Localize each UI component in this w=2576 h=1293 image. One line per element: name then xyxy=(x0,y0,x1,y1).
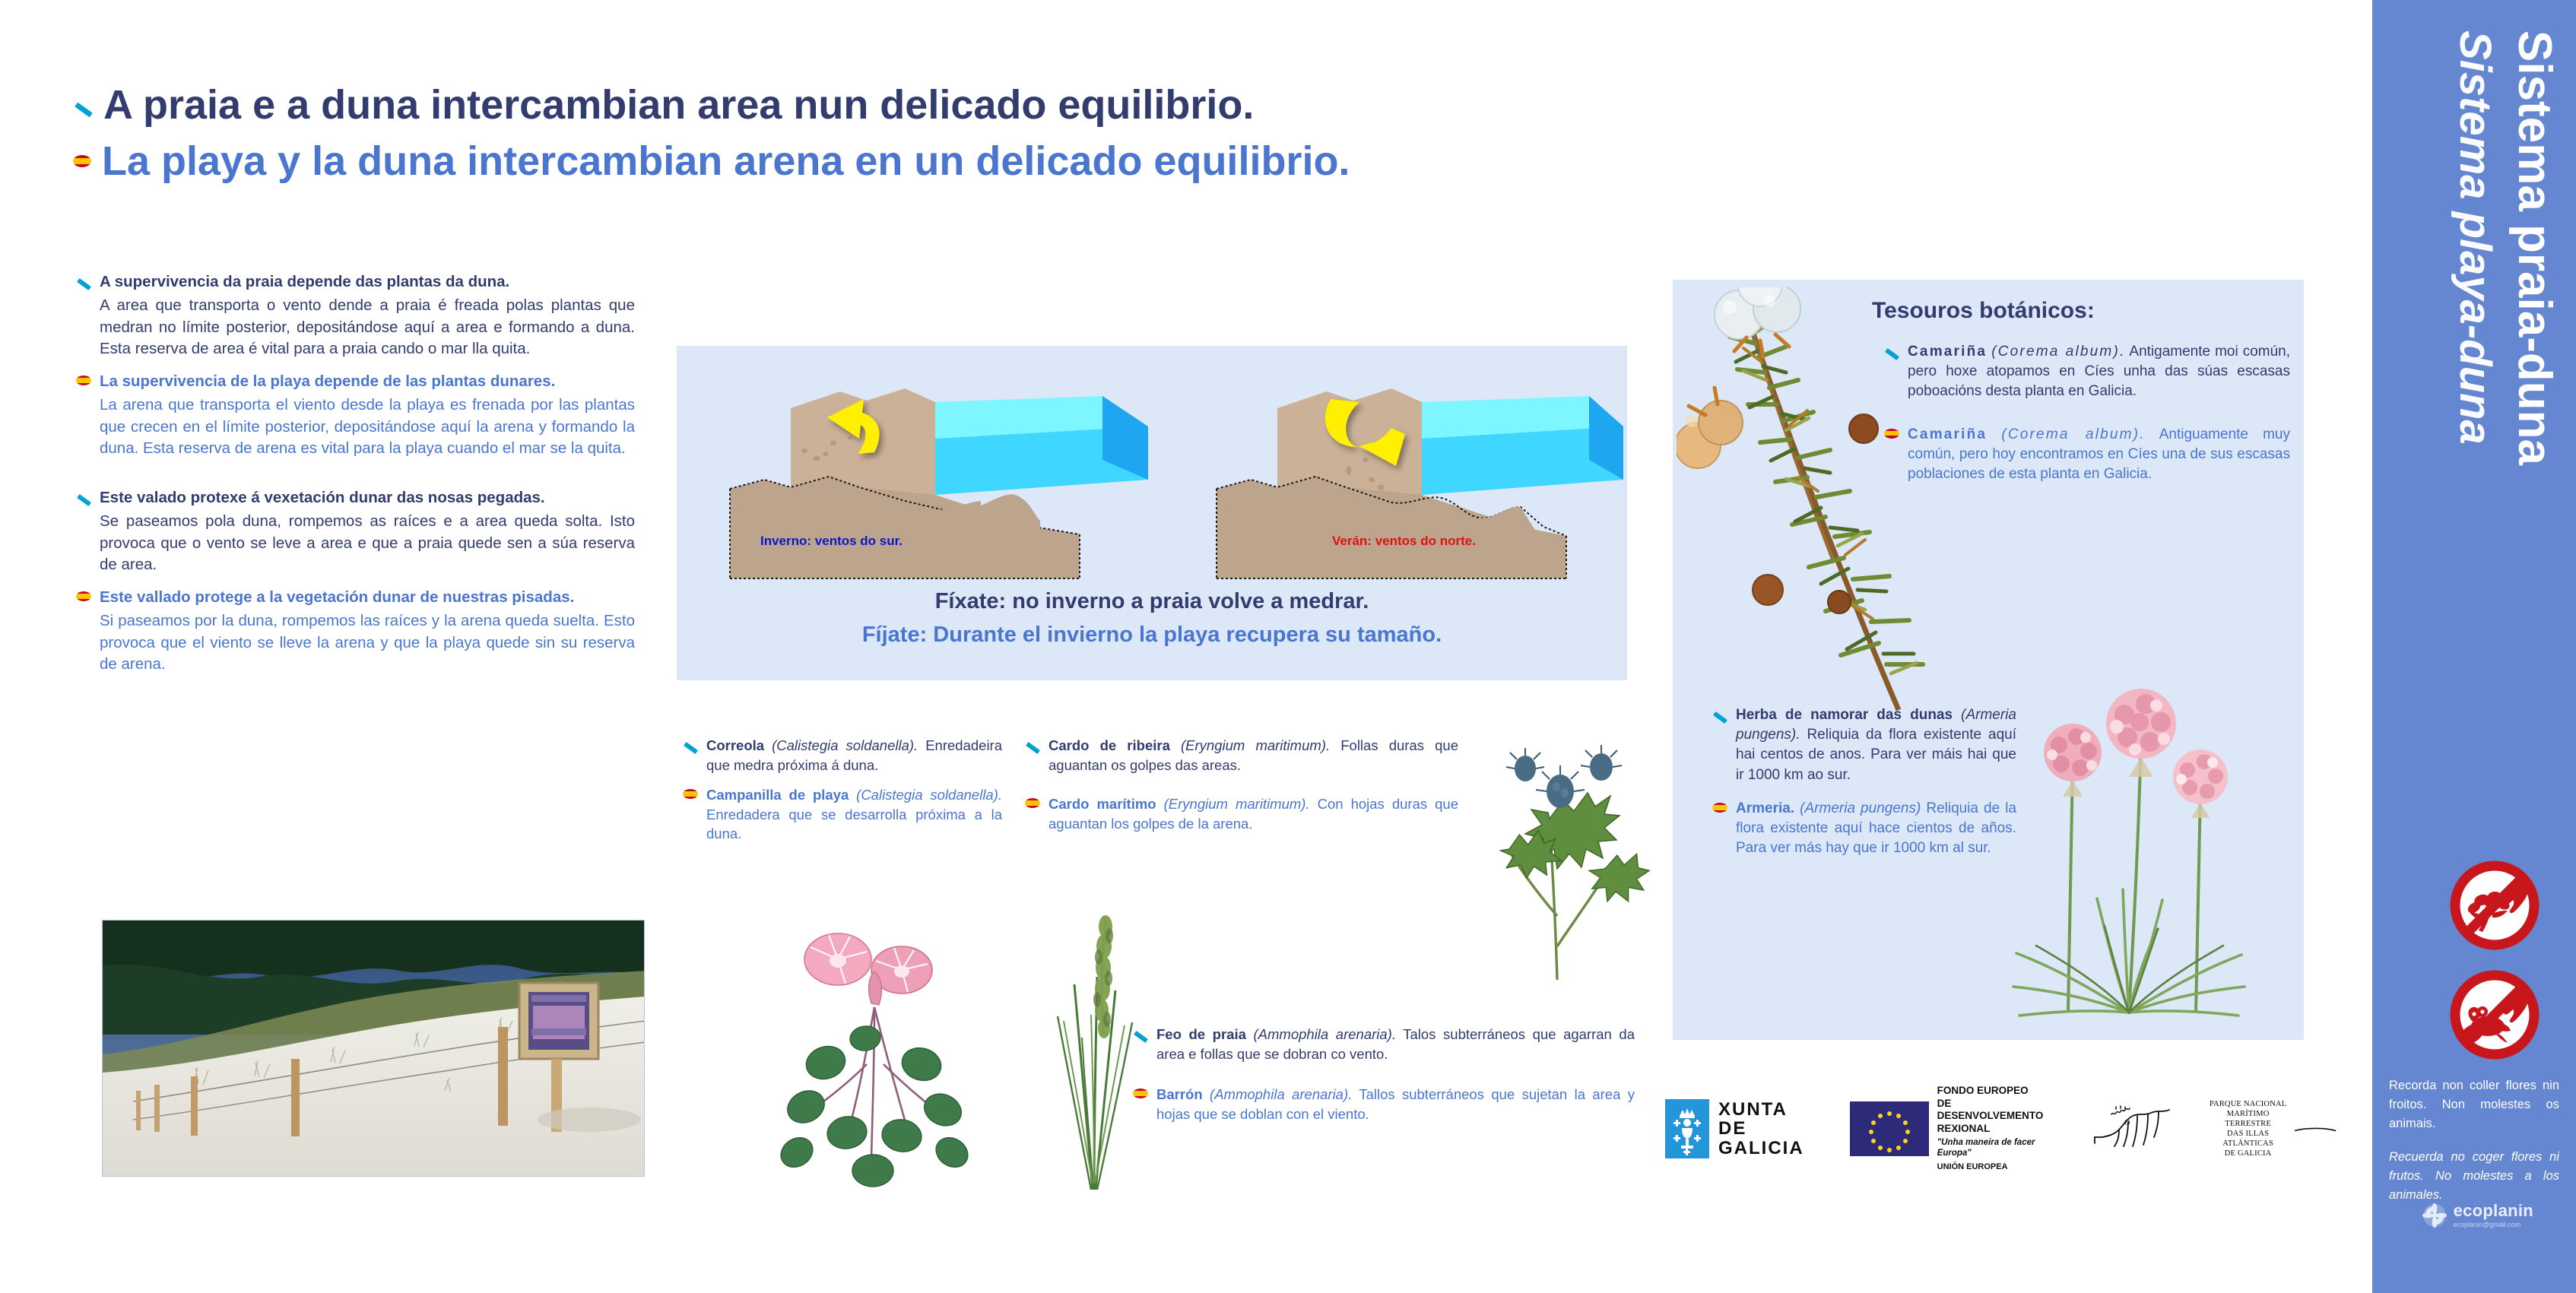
left-block2-lead-es: Este vallado protege a la vegetación dun… xyxy=(100,588,635,607)
feo-galician: Feo de praia (Ammophila arenaria). Talos… xyxy=(1133,1025,1635,1063)
spanish-flag-icon xyxy=(1712,803,1727,813)
eu-line2: DESENVOLVEMENTO xyxy=(1937,1110,2044,1122)
corema-album-illustration xyxy=(1677,287,1927,713)
european-fund-logo: FONDO EUROPEO DE DESENVOLVEMENTO REXIONA… xyxy=(1850,1085,2044,1172)
headline-block: A praia e a duna intercambian area nun d… xyxy=(73,82,2035,195)
spanish-flag-icon xyxy=(683,789,698,799)
camarina-sci-es: (Corema album). xyxy=(2001,426,2145,442)
park-line1: PARQUE NACIONAL MARÍTIMO TERRESTRE xyxy=(2203,1099,2292,1129)
armeria-pungens-illustration xyxy=(1977,661,2296,1019)
xunta-de-galicia-logo: XUNTA DE GALICIA xyxy=(1665,1099,1804,1158)
xunta-line1: XUNTA xyxy=(1718,1100,1804,1119)
calistegia-soldanella-illustration xyxy=(753,874,996,1193)
diagram-caption-gl: Fíxate: no inverno a praia volve a medra… xyxy=(677,588,1627,616)
correola-galician: Correola (Calistegia soldanella). Enreda… xyxy=(683,736,1002,775)
galician-flag-icon xyxy=(73,99,93,119)
left-block2-lead-gl: Este valado protexe á vexetación dunar d… xyxy=(100,488,635,508)
summer-block: Verán: ventos do norte. xyxy=(1217,388,1623,578)
right-sidebar: Sistema praia-duna Sistema playa-duna xyxy=(2372,0,2576,1293)
headline-galician: A praia e a duna intercambian area nun d… xyxy=(103,82,1254,128)
armeria-galician: Herba de namorar das dunas (Armeria pung… xyxy=(1712,705,2016,785)
national-park-logo: Ɵ PARQUE NACIONAL MARÍTIMO TERRESTRE DAS… xyxy=(2089,1099,2337,1159)
spanish-flag-icon xyxy=(76,591,91,601)
correola-body-es: Enredadera que se desarrolla próxima a l… xyxy=(706,807,1002,842)
cardo-lead-es: Cardo marítimo xyxy=(1048,796,1156,812)
sidebar-warning-note: Recorda non coller flores nin froitos. N… xyxy=(2389,1076,2559,1205)
ecoplanin-flower-icon xyxy=(2422,1203,2448,1228)
left-block1-lead-es: La supervivencia de la playa depende de … xyxy=(100,372,635,391)
left-block2-galician: Este valado protexe á vexetación dunar d… xyxy=(76,488,635,575)
cardo-sci-gl: (Eryngium maritimum). xyxy=(1181,737,1330,753)
correola-lead-gl: Correola xyxy=(706,737,764,753)
ecoplanin-credit: ecoplanin ecoplanin@gmail.com xyxy=(2422,1203,2533,1228)
armeria-lead-es: Armeria. xyxy=(1736,800,1794,816)
treasure-entry-camarina: Camariña (Corema album). Antigamente moi… xyxy=(1884,342,2290,507)
plant-entry-cardo: Cardo de ribeira (Eryngium maritimum). F… xyxy=(1025,736,1458,844)
spanish-flag-icon xyxy=(73,155,91,167)
armeria-sci-es: (Armeria pungens) xyxy=(1800,800,1921,816)
left-block1-lead-gl: A supervivencia da praia depende das pla… xyxy=(100,272,635,292)
left-block1-body-es: La arena que transporta el viento desde … xyxy=(100,395,635,459)
sidebar-title-galician: Sistema praia-duna xyxy=(2511,30,2558,465)
park-line2: DAS ILLAS ATLÁNTICAS xyxy=(2203,1129,2292,1149)
headline-spanish: La playa y la duna intercambian arena en… xyxy=(102,138,1350,184)
winter-block: Inverno: ventos do sur. xyxy=(730,388,1148,578)
sidebar-title-spanish: Sistema playa-duna xyxy=(2453,30,2497,445)
left-block1-galician: A supervivencia da praia depende das pla… xyxy=(76,272,635,360)
eryngium-maritimum-illustration xyxy=(1467,734,1658,984)
left-block1-body-gl: A area que transporta o vento dende a pr… xyxy=(100,295,635,360)
left-block2-body-gl: Se paseamos pola duna, rompemos as raíce… xyxy=(100,511,635,575)
plant-entry-correola: Correola (Calistegia soldanella). Enreda… xyxy=(683,736,1002,854)
treasure-entry-armeria: Herba de namorar das dunas (Armeria pung… xyxy=(1712,705,2016,873)
plant-entry-feo: Feo de praia (Ammophila arenaria). Talos… xyxy=(1133,1025,1635,1134)
correola-lead-es: Campanilla de playa xyxy=(706,787,849,803)
headline-spanish-row: La playa y la duna intercambian arena en… xyxy=(73,138,2035,184)
winter-label: Inverno: ventos do sur. xyxy=(760,534,903,548)
diagram-caption: Fíxate: no inverno a praia volve a medra… xyxy=(677,588,1627,649)
sidebar-note-gl: Recorda non coller flores nin froitos. N… xyxy=(2389,1076,2559,1133)
correola-sci-es: (Calistegia soldanella). xyxy=(856,787,1002,803)
galician-flag-icon xyxy=(76,276,91,291)
park-underline-icon xyxy=(2293,1126,2337,1133)
armeria-spanish: Armeria. (Armeria pungens) Reliquia de l… xyxy=(1712,799,2016,859)
feo-sci-es: (Ammophila arenaria). xyxy=(1210,1086,1352,1102)
cardo-spanish: Cardo marítimo (Eryngium maritimum). Con… xyxy=(1025,794,1458,833)
galician-flag-icon xyxy=(683,740,698,755)
camarina-galician: Camariña (Corema album). Antigamente moi… xyxy=(1884,342,2290,402)
feo-sci-gl: (Ammophila arenaria). xyxy=(1254,1026,1396,1042)
prohibition-signs xyxy=(2448,859,2541,1061)
eu-line3: REXIONAL xyxy=(1937,1123,2044,1135)
eu-line1: FONDO EUROPEO DE xyxy=(1937,1085,2044,1110)
cardo-galician: Cardo de ribeira (Eryngium maritimum). F… xyxy=(1025,736,1458,775)
ecoplanin-name: ecoplanin xyxy=(2454,1203,2533,1219)
svg-text:Ɵ: Ɵ xyxy=(2124,1119,2130,1127)
left-block2-body-es: Si paseamos por la duna, rompemos las ra… xyxy=(100,610,635,675)
feo-spanish: Barrón (Ammophila arenaria). Tallos subt… xyxy=(1133,1085,1635,1123)
camarina-sci-gl: (Corema album). xyxy=(1991,344,2125,360)
dune-fence-photo xyxy=(102,920,645,1177)
sidebar-titles: Sistema praia-duna Sistema playa-duna xyxy=(2372,30,2576,684)
galician-flag-icon xyxy=(1025,740,1040,755)
correola-spanish: Campanilla de playa (Calistegia soldanel… xyxy=(683,785,1002,844)
galician-flag-icon xyxy=(76,492,91,507)
spacer xyxy=(76,471,635,488)
camarina-spanish: Camariña (Corema album). Antiguamente mu… xyxy=(1884,425,2290,485)
eu-flag-icon xyxy=(1850,1101,1929,1156)
ecoplanin-email: ecoplanin@gmail.com xyxy=(2454,1222,2533,1228)
correola-sci-gl: (Calistegia soldanella). xyxy=(772,737,918,753)
headline-galician-row: A praia e a duna intercambian area nun d… xyxy=(73,82,2035,128)
feo-lead-gl: Feo de praia xyxy=(1156,1026,1246,1042)
feo-lead-es: Barrón xyxy=(1156,1086,1203,1102)
park-cliffs-icon: Ɵ xyxy=(2089,1102,2203,1156)
left-text-column: A supervivencia da praia depende das pla… xyxy=(76,272,635,687)
institutional-logos: XUNTA DE GALICIA xyxy=(1665,1087,2289,1171)
no-picking-flowers-icon xyxy=(2448,859,2541,952)
cardo-sci-es: (Eryngium maritimum). xyxy=(1164,796,1310,812)
ammophila-arenaria-illustration xyxy=(1030,870,1160,1197)
cardo-lead-gl: Cardo de ribeira xyxy=(1048,737,1170,753)
sidebar-note-es: Recuerda no coger flores ni frutos. No m… xyxy=(2389,1148,2559,1204)
park-line3: DE GALICIA xyxy=(2203,1149,2292,1158)
diagram-blocks: Inverno: ventos do sur. xyxy=(677,346,1627,582)
eu-union-label: UNIÓN EUROPEA xyxy=(1937,1162,2044,1172)
no-disturbing-animals-icon xyxy=(2448,968,2541,1061)
spanish-flag-icon xyxy=(1025,798,1040,808)
left-block2-spanish: Este vallado protege a la vegetación dun… xyxy=(76,588,635,675)
spanish-flag-icon xyxy=(76,376,91,385)
diagram-caption-es: Fíjate: Durante el invierno la playa rec… xyxy=(677,621,1627,650)
xunta-coat-of-arms-icon xyxy=(1665,1099,1709,1158)
xunta-line2: DE GALICIA xyxy=(1718,1119,1804,1157)
summer-label: Verán: ventos do norte. xyxy=(1332,534,1476,548)
left-block1-spanish: La supervivencia de la playa depende de … xyxy=(76,372,635,459)
beach-dune-diagram-card: Inverno: ventos do sur. xyxy=(677,346,1627,680)
poster-root: A praia e a duna intercambian area nun d… xyxy=(0,0,2576,1293)
eu-slogan: "Unha maneira de facer Europa" xyxy=(1937,1137,2044,1158)
